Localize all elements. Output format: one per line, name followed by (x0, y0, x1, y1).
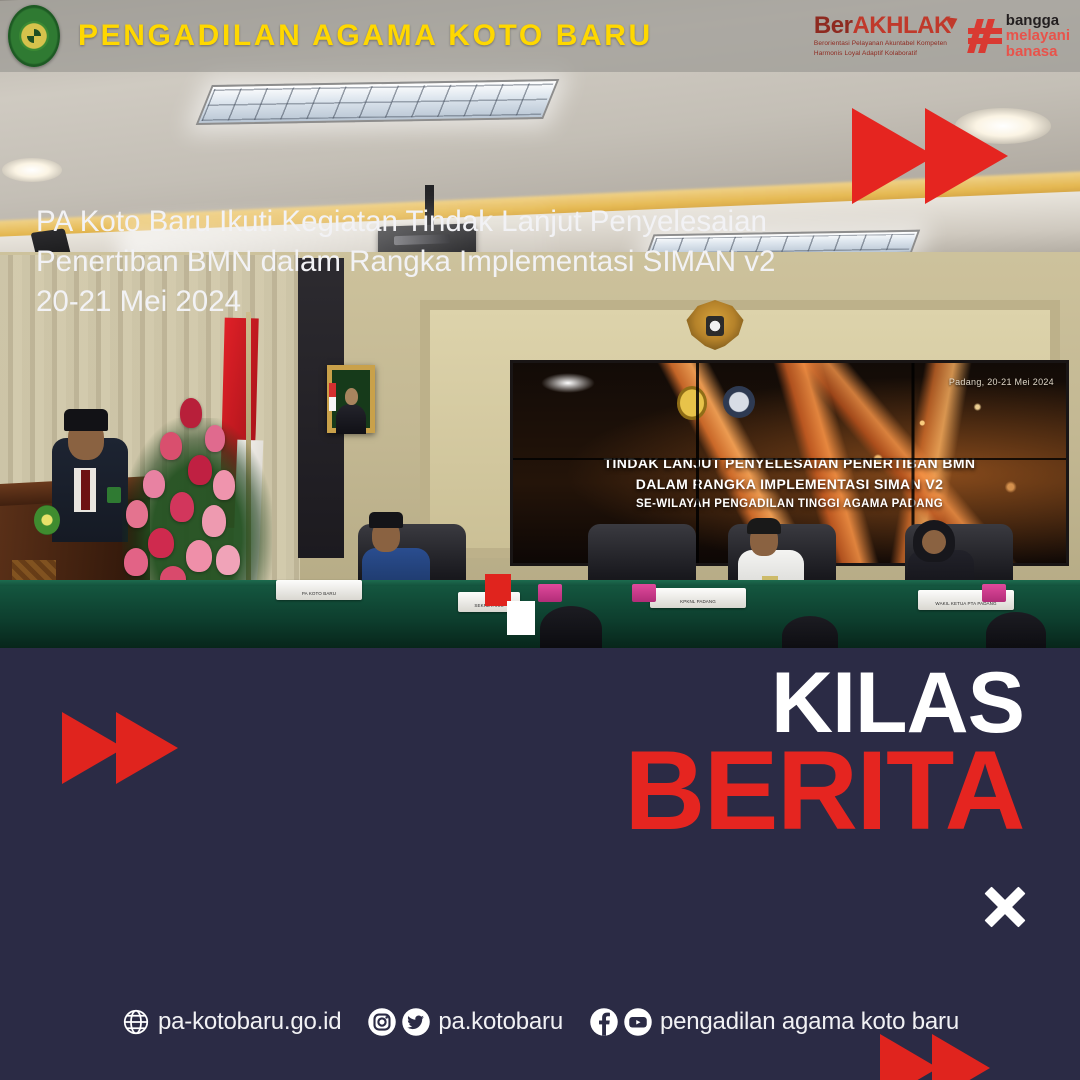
table-folder (632, 584, 656, 602)
placard-text: KPKNL PADANG (650, 599, 746, 604)
header-bar: PENGADILAN AGAMA KOTO BARU BerAKHLAK Ber… (0, 0, 1080, 72)
social-handle-text: pa.kotobaru (438, 1008, 563, 1036)
footer-contact-bar: pa-kotobaru.go.id pa.kotobaru (0, 998, 1080, 1046)
flower-bloom (202, 505, 226, 537)
close-x-icon (982, 884, 1028, 930)
flower-bloom (213, 470, 235, 500)
speaker-songkok (64, 409, 108, 431)
audience-head (540, 606, 602, 650)
page-name-text: pengadilan agama koto baru (660, 1008, 959, 1036)
portrait-flag (329, 383, 336, 411)
headline-line-1: PA Koto Baru Ikuti Kegiatan Tindak Lanju… (36, 202, 966, 242)
flower-bloom (148, 528, 174, 558)
flower-bloom (170, 492, 194, 522)
website-text: pa-kotobaru.go.id (158, 1008, 341, 1036)
bangga-line1: bangga (1006, 13, 1070, 28)
header-logos: BerAKHLAK Berorientasi Pelayanan Akuntab… (814, 13, 1070, 59)
hashtag-icon (968, 19, 1002, 53)
play-triangle-icon (116, 712, 178, 784)
decor-arrows-top-right (852, 108, 1008, 204)
social-handle-group[interactable]: pa.kotobaru (367, 1007, 563, 1037)
flower-bloom (126, 500, 148, 528)
event-photo: Padang, 20-21 Mei 2024 TINDAK LANJUT PEN… (0, 0, 1080, 650)
downlight (2, 158, 62, 182)
headline-block: PA Koto Baru Ikuti Kegiatan Tindak Lanju… (36, 202, 966, 322)
flower-bloom (186, 540, 212, 572)
podium-emblem (34, 505, 60, 535)
globe-icon (121, 1007, 151, 1037)
berakhlak-subtitle-line1: Berorientasi Pelayanan Akuntabel Kompete… (814, 41, 958, 48)
name-placard: PA KOTO BARU (276, 580, 362, 600)
flower-bloom (205, 425, 225, 452)
twitter-icon (401, 1007, 431, 1037)
play-triangle-icon (852, 108, 935, 204)
berakhlak-akhlak: AKHLAK (852, 12, 950, 39)
headline-line-2: Penertiban BMN dalam Rangka Implementasi… (36, 242, 966, 282)
flower-bloom (180, 398, 202, 428)
flower-bloom (160, 432, 182, 460)
youtube-icon (623, 1007, 653, 1037)
audience-head (782, 616, 838, 650)
play-triangle-icon (62, 712, 124, 784)
decor-arrows-left (62, 712, 178, 784)
kilas-berita-title: KILAS BERITA (624, 666, 1024, 840)
facebook-icon (589, 1007, 619, 1037)
berakhlak-ber: Ber (814, 12, 853, 39)
berakhlak-subtitle-line2: Harmonis Loyal Adaptif Kolaboratif (814, 51, 958, 58)
flower-bloom (188, 455, 212, 485)
berakhlak-wordmark: BerAKHLAK (814, 14, 958, 38)
bangga-wordmark: bangga melayani banasa (1006, 13, 1070, 59)
table-folder (538, 584, 562, 602)
ceiling-light-panel (196, 79, 560, 125)
speaker-tie (81, 470, 90, 510)
name-placard: KPKNL PADANG (650, 588, 746, 608)
bangga-line2: melayani (1006, 28, 1070, 43)
placard-text: PA KOTO BARU (276, 591, 362, 596)
flower-bloom (124, 548, 148, 576)
table-folder (982, 584, 1006, 602)
bangga-melayani-bangsa-logo: bangga melayani banasa (968, 13, 1070, 59)
court-emblem-icon (8, 5, 60, 67)
page-title: PENGADILAN AGAMA KOTO BARU (78, 19, 653, 53)
berita-title: BERITA (624, 742, 1024, 841)
berakhlak-logo: BerAKHLAK Berorientasi Pelayanan Akuntab… (814, 14, 958, 57)
headline-line-3: 20-21 Mei 2024 (36, 282, 966, 322)
news-poster: Padang, 20-21 Mei 2024 TINDAK LANJUT PEN… (0, 0, 1080, 1080)
bangga-line3: banasa (1006, 44, 1070, 59)
flower-bloom (216, 545, 240, 575)
page-name-group[interactable]: pengadilan agama koto baru (589, 1007, 959, 1037)
desk-flag-white (507, 601, 535, 635)
play-triangle-icon (925, 108, 1008, 204)
website-group[interactable]: pa-kotobaru.go.id (121, 1007, 341, 1037)
instagram-icon (367, 1007, 397, 1037)
audience-head (986, 612, 1046, 650)
flower-bloom (143, 470, 165, 498)
speaker-badge (107, 487, 121, 503)
